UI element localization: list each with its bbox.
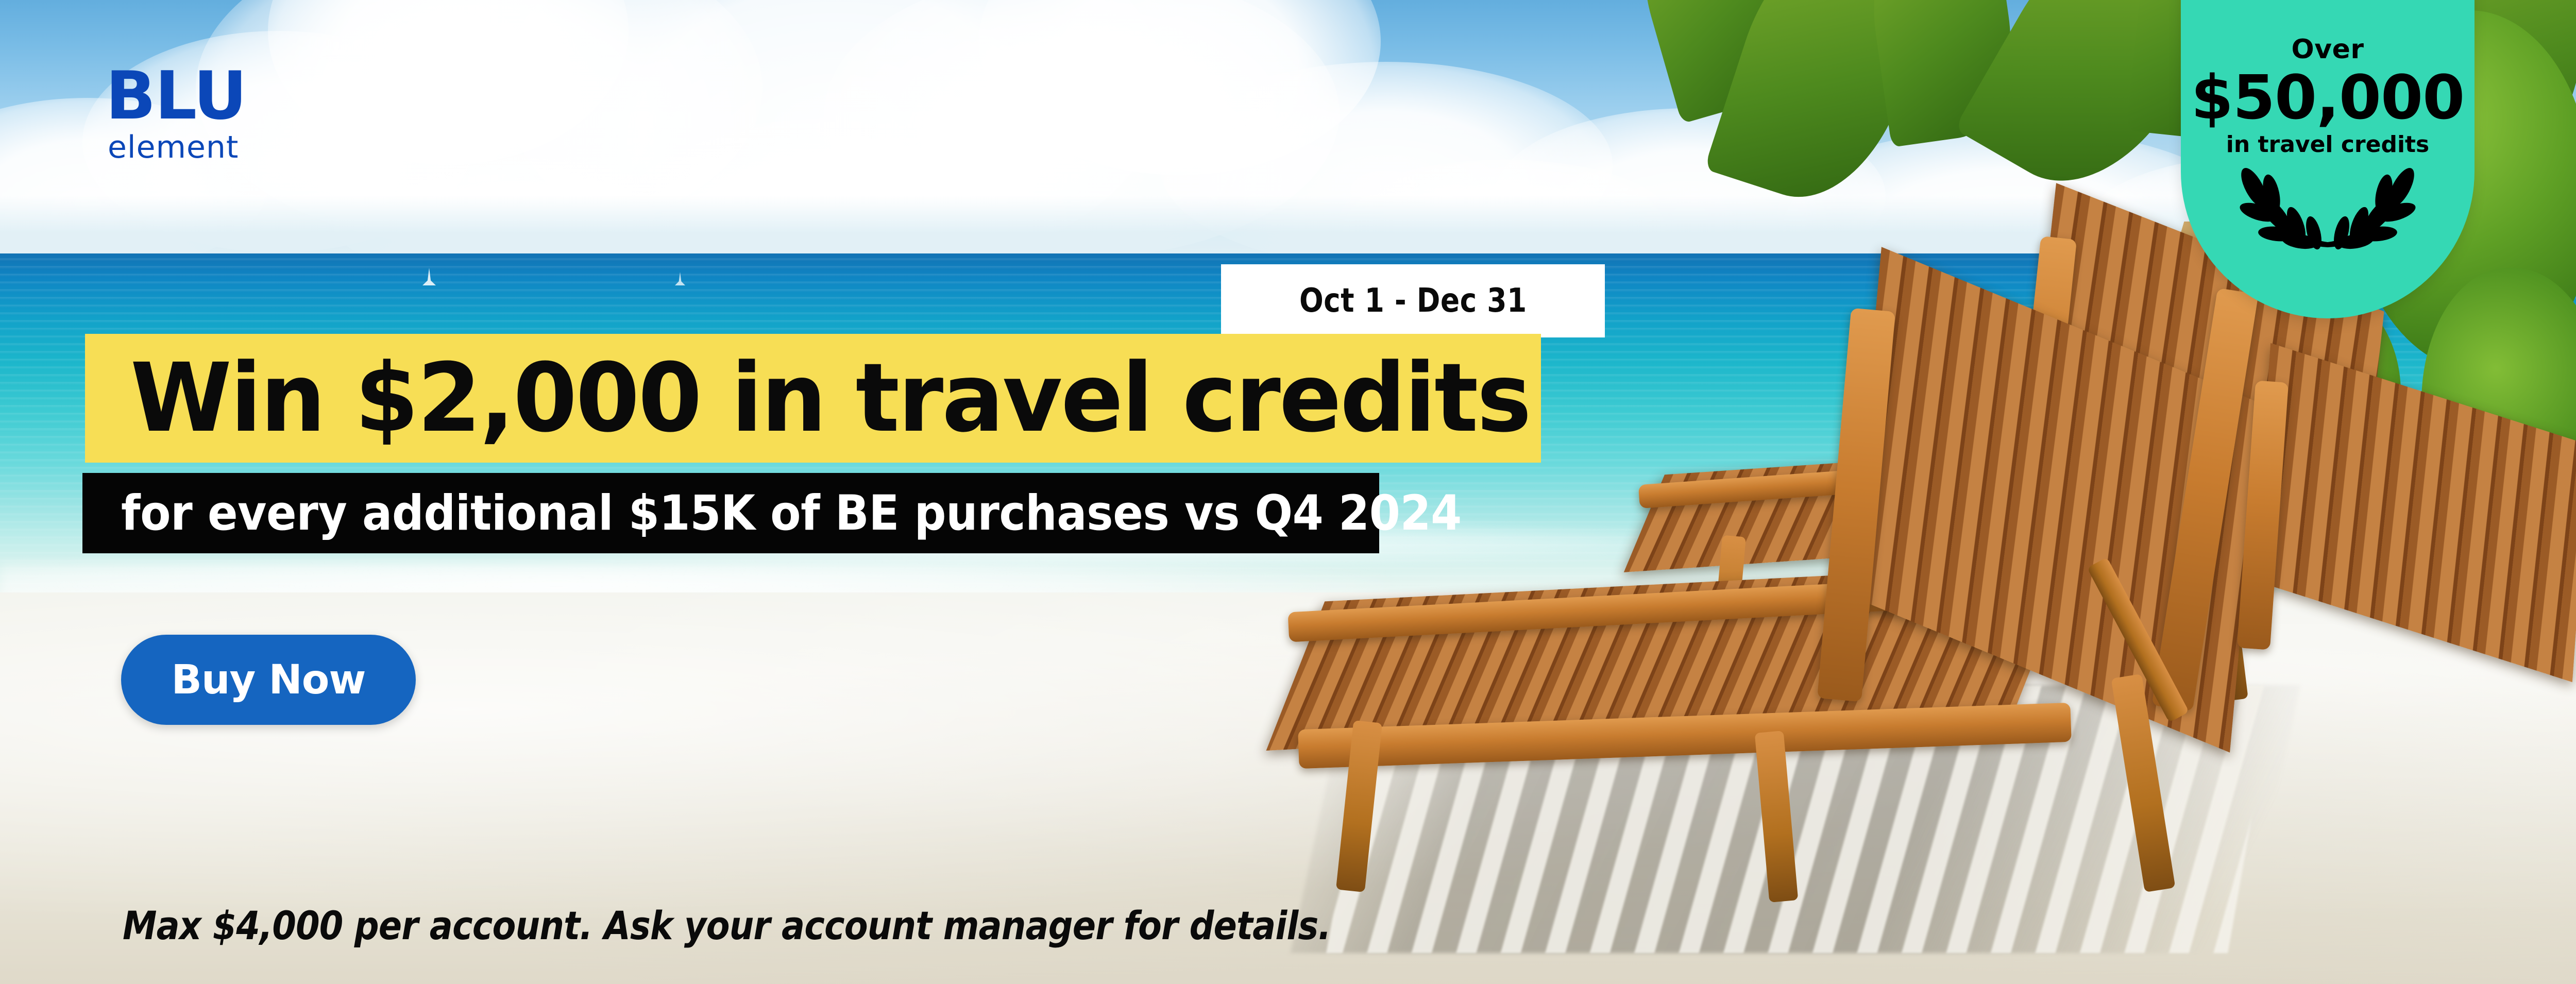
promo-banner: BLU element Over $50,000 in travel credi…: [0, 0, 2576, 984]
travel-credits-badge: Over $50,000 in travel credits: [2181, 0, 2475, 318]
logo-wordmark-secondary: element: [108, 132, 301, 163]
laurel-wreath-icon: [2181, 161, 2475, 253]
promo-headline: Win $2,000 in travel credits: [130, 351, 1530, 446]
promo-subheadline: for every additional $15K of BE purchase…: [121, 485, 1462, 541]
promo-disclaimer: Max $4,000 per account. Ask your account…: [123, 903, 1331, 948]
subheadline-band: for every additional $15K of BE purchase…: [82, 473, 1379, 553]
badge-amount: $50,000: [2181, 65, 2475, 130]
badge-caption: in travel credits: [2181, 131, 2475, 158]
brand-logo[interactable]: BLU element: [106, 66, 301, 163]
headline-band: Win $2,000 in travel credits: [85, 334, 1541, 463]
buy-now-button[interactable]: Buy Now: [121, 635, 416, 725]
promo-date-ribbon: Oct 1 - Dec 31: [1221, 264, 1605, 337]
badge-eyebrow: Over: [2181, 34, 2475, 65]
promo-date-range: Oct 1 - Dec 31: [1299, 282, 1527, 320]
logo-wordmark-primary: BLU: [106, 66, 301, 127]
